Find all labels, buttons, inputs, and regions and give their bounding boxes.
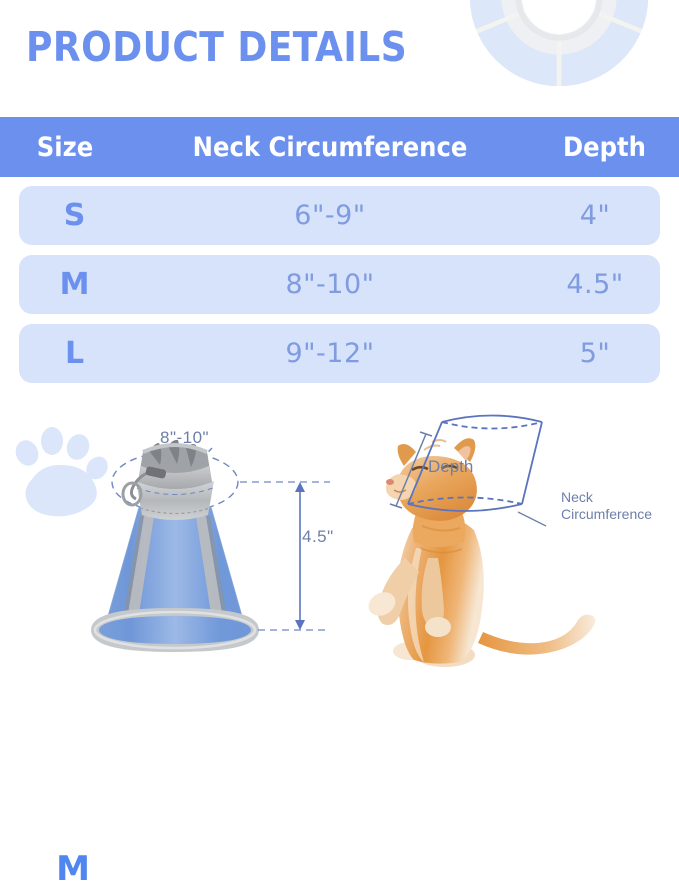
cat-neck-circumference-label: Neck Circumference [561,489,651,523]
table-header-row: Size Neck Circumference Depth [0,117,679,177]
column-header-size: Size [7,132,124,163]
cell-neck: 6"-9" [130,200,530,231]
cell-depth: 5" [530,338,660,369]
size-chart-table: Size Neck Circumference Depth S 6"-9" 4"… [0,117,679,393]
cone-collar-product-photo [0,408,350,679]
cell-depth: 4" [530,200,660,231]
depth-dimension-label: 4.5" [302,527,334,547]
column-header-depth: Depth [537,132,671,163]
column-header-neck-circumference: Neck Circumference [150,132,510,163]
cell-size: M [19,267,130,302]
cell-neck: 9"-12" [130,338,530,369]
paw-print-icon [12,427,112,516]
table-row: L 9"-12" 5" [19,324,660,383]
cat-measurement-diagram [350,408,679,679]
table-row: S 6"-9" 4" [19,186,660,245]
cell-size: L [19,336,130,371]
page-title: PRODUCT DETAILS [26,23,407,71]
illustration-area: M [0,408,679,679]
cone-collar-top-view-icon [466,0,652,90]
table-row: M 8"-10" 4.5" [19,255,660,314]
cat-depth-label: Depth [428,457,473,477]
cell-size: S [19,198,130,233]
product-dimension-diagram: M [0,408,350,679]
cell-depth: 4.5" [530,269,660,300]
cat-standing-photo [350,408,679,679]
table-body: S 6"-9" 4" M 8"-10" 4.5" L 9"-12" 5" [0,177,679,383]
neck-dimension-label: 8"-10" [160,428,209,448]
cell-neck: 8"-10" [130,269,530,300]
depth-dimension-line [240,482,330,630]
page-header: PRODUCT DETAILS [0,0,679,117]
size-badge-label: M [51,849,95,889]
